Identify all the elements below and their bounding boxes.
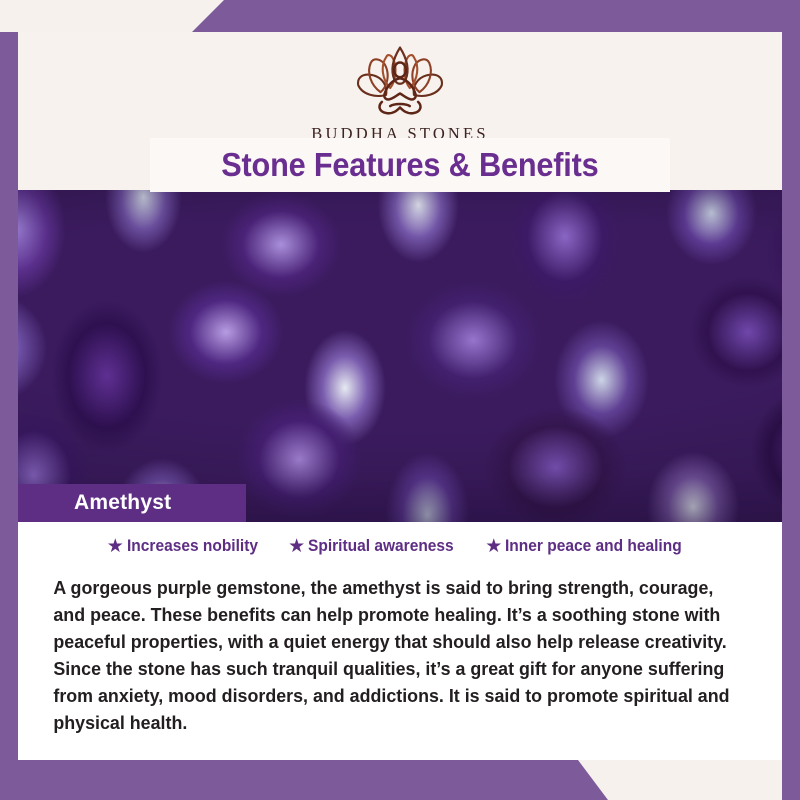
- amethyst-crystal-cluster-photo: Amethyst: [18, 190, 782, 522]
- stone-name-label: Amethyst: [74, 491, 171, 515]
- benefit-item-spiritual-awareness: ★ Spiritual awareness: [288, 537, 463, 556]
- benefit-label: Inner peace and healing: [505, 537, 682, 556]
- frame-right-strip: [782, 0, 800, 800]
- page-title-banner: Stone Features & Benefits: [150, 138, 670, 192]
- lotus-meditation-icon: [344, 42, 456, 120]
- benefits-list: ★ Increases nobility ★ Spiritual awarene…: [36, 524, 764, 568]
- frame-top-bar: [0, 0, 800, 32]
- page-title: Stone Features & Benefits: [221, 146, 598, 184]
- benefit-label: Spiritual awareness: [308, 537, 454, 556]
- star-icon: ★: [288, 537, 305, 556]
- benefit-item-inner-peace-and-healing: ★ Inner peace and healing: [485, 537, 693, 556]
- stone-name-banner: Amethyst: [18, 484, 246, 522]
- star-icon: ★: [485, 537, 502, 556]
- benefit-item-increases-nobility: ★ Increases nobility: [107, 537, 266, 556]
- stone-description: A gorgeous purple gemstone, the amethyst…: [36, 574, 739, 736]
- frame-bottom-bar: [0, 760, 800, 800]
- infographic-page: BUDDHA STONES Amethyst ★ Increases nobil…: [0, 0, 800, 800]
- frame-left-strip: [0, 32, 18, 800]
- stone-details-section: ★ Increases nobility ★ Spiritual awarene…: [18, 522, 782, 760]
- benefit-label: Increases nobility: [127, 537, 258, 556]
- star-icon: ★: [107, 537, 124, 556]
